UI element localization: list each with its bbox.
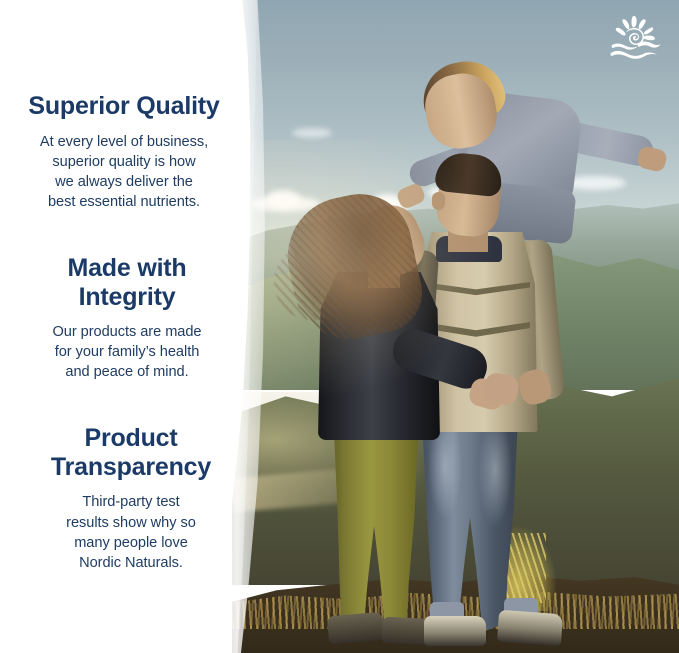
value-title: Made with Integrity	[23, 254, 231, 311]
value-title: Superior Quality	[12, 92, 236, 121]
value-body-line: best essential nutrients.	[12, 192, 236, 212]
woman-pants	[328, 426, 424, 634]
man-shoe	[424, 616, 486, 646]
value-title-line: Integrity	[79, 283, 176, 311]
brand-values-poster: Superior Quality At every level of busin…	[0, 0, 679, 653]
value-body-line: Nordic Naturals.	[28, 553, 234, 573]
value-title-line: Made with	[67, 254, 186, 282]
value-title-line: Superior	[28, 92, 129, 120]
child-right-hand	[636, 145, 668, 173]
family-figures	[232, 0, 679, 653]
value-body-line: Third-party test	[28, 492, 234, 512]
jeans-highlight	[428, 430, 462, 520]
value-body: Third-party test results show why so man…	[28, 492, 234, 573]
value-block-superior-quality: Superior Quality At every level of busin…	[12, 92, 236, 212]
sun-waves-logo-icon	[609, 14, 661, 60]
brand-values-list: Superior Quality At every level of busin…	[0, 0, 248, 653]
value-body-line: Our products are made	[23, 322, 231, 342]
value-body-line: for your family’s health	[23, 342, 231, 362]
value-body-line: superior quality is how	[12, 152, 236, 172]
value-body-line: many people love	[28, 533, 234, 553]
value-body-line: and peace of mind.	[23, 362, 231, 382]
value-body: Our products are made for your family’s …	[23, 322, 231, 382]
jeans-highlight	[478, 432, 512, 528]
value-title-line: Product	[84, 424, 177, 452]
man-ear	[432, 192, 445, 210]
value-body-line: At every level of business,	[12, 132, 236, 152]
value-block-made-with-integrity: Made with Integrity Our products are mad…	[23, 254, 231, 382]
value-block-product-transparency: Product Transparency Third-party test re…	[28, 424, 234, 573]
woman-shoe	[327, 612, 385, 645]
value-body-line: results show why so	[28, 513, 234, 533]
value-body-line: we always deliver the	[12, 172, 236, 192]
value-title-line: Transparency	[51, 453, 211, 481]
man-shoe	[497, 610, 563, 646]
value-body: At every level of business, superior qua…	[12, 132, 236, 213]
value-title-line: Quality	[136, 92, 219, 120]
family-outdoor-photo	[232, 0, 679, 653]
nordic-naturals-logo	[609, 14, 661, 60]
value-title: Product Transparency	[28, 424, 234, 481]
